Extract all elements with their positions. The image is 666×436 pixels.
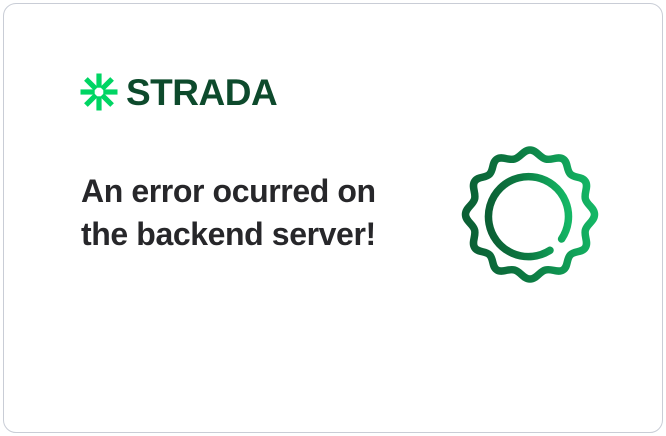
error-screen: STRADA An error ocurred on the backend s… [0,0,666,436]
error-card: STRADA An error ocurred on the backend s… [3,3,663,433]
brand-wordmark: STRADA [126,74,277,111]
strada-asterisk-icon [79,72,119,112]
brand-lockup: STRADA [79,72,277,112]
error-message-block: An error ocurred on the backend server! [81,170,381,256]
gear-illustration [448,140,612,304]
error-message-heading: An error ocurred on the backend server! [81,170,381,256]
